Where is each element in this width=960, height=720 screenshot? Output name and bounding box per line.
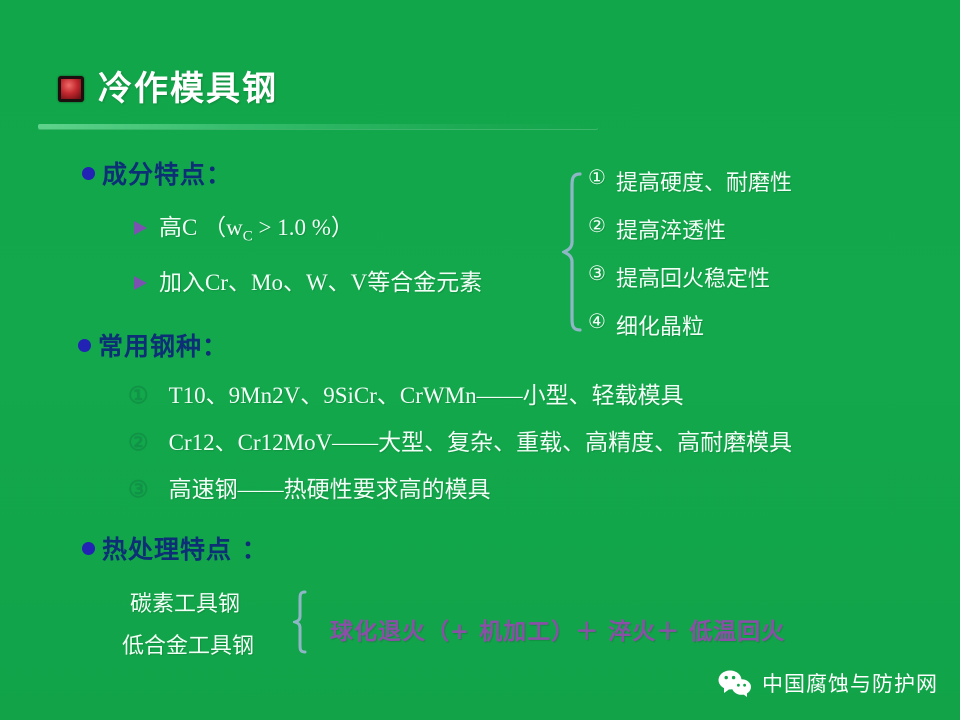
slide-title-row: 冷作模具钢 [58,72,278,106]
effect-number: ① [588,165,606,197]
effect-item: ① 提高硬度、耐磨性 [588,165,792,197]
effect-item: ④ 细化晶粒 [588,309,792,341]
effect-item: ③ 提高回火稳定性 [588,261,792,293]
composition-item-high-carbon: 高C （wC > 1.0 %） [134,208,354,246]
alloy-text: 加入Cr、Mo、W、V等合金元素 [159,270,482,295]
effect-number: ③ [588,261,606,293]
composition-item-alloy: 加入Cr、Mo、W、V等合金元素 [134,263,482,297]
steel-number: ② [128,430,149,456]
bullet-dot-icon [78,339,91,352]
arrow-bullet-icon [134,221,147,235]
heading-common-steels: 常用钢种： [78,327,228,363]
heading-composition: 成分特点： [82,155,232,191]
effect-label: 细化晶粒 [616,309,704,341]
red-sphere-icon [58,76,84,102]
wechat-icon [718,670,752,697]
effect-label: 提高淬透性 [616,213,726,245]
heat-steel-type: 低合金工具钢 [122,628,254,660]
heat-steel-type-list: 碳素工具钢 低合金工具钢 [130,586,254,660]
slide-canvas: 冷作模具钢 成分特点： 高C （wC > 1.0 %） 加入Cr、Mo、W、V等… [0,0,960,720]
high-carbon-text-after: > 1.0 %） [253,215,354,240]
steel-number: ① [128,383,149,409]
steel-label: 高速钢——热硬性要求高的模具 [169,470,491,504]
effect-label: 提高硬度、耐磨性 [616,165,792,197]
high-carbon-subscript: C [243,229,253,245]
watermark-label: 中国腐蚀与防护网 [762,668,938,698]
arrow-bullet-icon [134,276,147,290]
page-title: 冷作模具钢 [98,72,278,106]
steel-item: ② Cr12、Cr12MoV——大型、复杂、重载、高精度、高耐磨模具 [128,423,792,457]
steel-item: ① T10、9Mn2V、9SiCr、CrWMn——小型、轻载模具 [128,376,684,410]
steel-label: T10、9Mn2V、9SiCr、CrWMn——小型、轻载模具 [169,376,684,410]
steel-item: ③ 高速钢——热硬性要求高的模具 [128,470,491,504]
effect-number: ④ [588,309,606,341]
bullet-dot-icon [82,542,95,555]
heading-heat-treatment-label: 热处理特点 ： [102,530,268,566]
heading-composition-label: 成分特点： [102,155,232,191]
bullet-dot-icon [82,167,95,180]
effects-list: ① 提高硬度、耐磨性 ② 提高淬透性 ③ 提高回火稳定性 ④ 细化晶粒 [588,165,792,341]
effect-label: 提高回火稳定性 [616,261,770,293]
watermark: 中国腐蚀与防护网 [718,668,938,698]
heading-heat-treatment: 热处理特点 ： [82,530,268,566]
left-curly-brace-icon [562,172,584,332]
steel-label: Cr12、Cr12MoV——大型、复杂、重载、高精度、高耐磨模具 [169,423,793,457]
heading-common-steels-label: 常用钢种： [98,327,228,363]
heat-treatment-process: 球化退火（+ 机加工）＋ 淬火＋ 低温回火 [330,612,785,646]
high-carbon-text-before: 高C （w [159,215,243,240]
effect-item: ② 提高淬透性 [588,213,792,245]
effect-number: ② [588,213,606,245]
title-divider [38,124,598,129]
left-curly-brace-icon [293,590,311,654]
steel-number: ③ [128,477,149,503]
heat-steel-type: 碳素工具钢 [130,586,254,618]
